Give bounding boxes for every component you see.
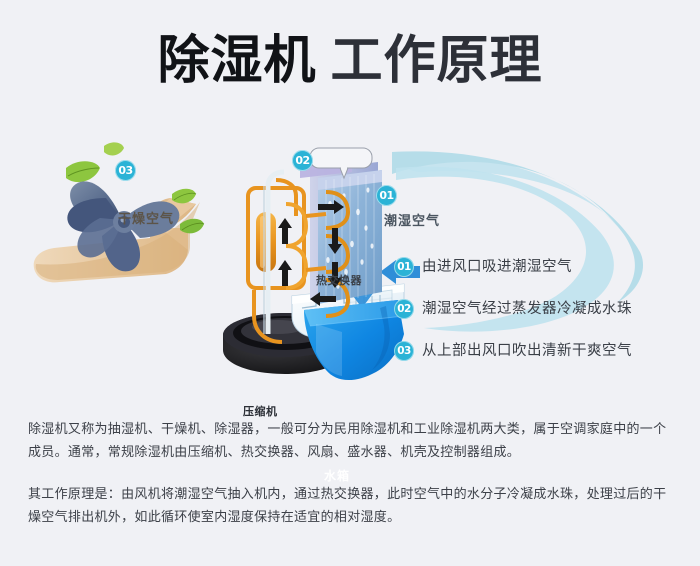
legend-badge-02: 02 [394, 299, 414, 319]
legend-text-02: 潮湿空气经过蒸发器冷凝成水珠 [422, 299, 632, 319]
heat-exchanger-fins-icon [300, 156, 382, 304]
compressor-label: 压缩机 [243, 403, 278, 419]
diagram-badge-02: 02 [292, 150, 313, 171]
legend-item-03: 03 从上部出风口吹出清新干爽空气 [394, 339, 684, 362]
legend-badge-03: 03 [394, 341, 414, 361]
legend-badge-01: 01 [394, 257, 414, 277]
legend-text-03: 从上部出风口吹出清新干爽空气 [422, 341, 632, 361]
body-copy: 除湿机又称为抽湿机、干燥机、除湿器，一般可分为民用除湿机和工业除湿机两大类，属于… [28, 418, 678, 529]
title-part-2: 工作原理 [331, 31, 543, 91]
diagram-badge-03: 03 [115, 160, 136, 181]
body-paragraph-2: 其工作原理是：由风机将潮湿空气抽入机内，通过热交换器，此时空气中的水分子冷凝成水… [28, 483, 678, 529]
diagram-badge-01: 01 [376, 185, 397, 206]
legend-text-01: 由进风口吸进潮湿空气 [422, 257, 572, 277]
page-title: 除湿机工作原理 [0, 34, 700, 89]
title-part-1: 除湿机 [157, 31, 316, 91]
legend-item-01: 01 由进风口吸进潮湿空气 [394, 255, 684, 278]
body-paragraph-1: 除湿机又称为抽湿机、干燥机、除湿器，一般可分为民用除湿机和工业除湿机两大类，属于… [28, 418, 678, 464]
legend-item-02: 02 潮湿空气经过蒸发器冷凝成水珠 [394, 297, 684, 320]
infographic-page: 除湿机工作原理 [0, 0, 700, 566]
legend-list: 01 由进风口吸进潮湿空气 02 潮湿空气经过蒸发器冷凝成水珠 03 从上部出风… [394, 255, 684, 381]
